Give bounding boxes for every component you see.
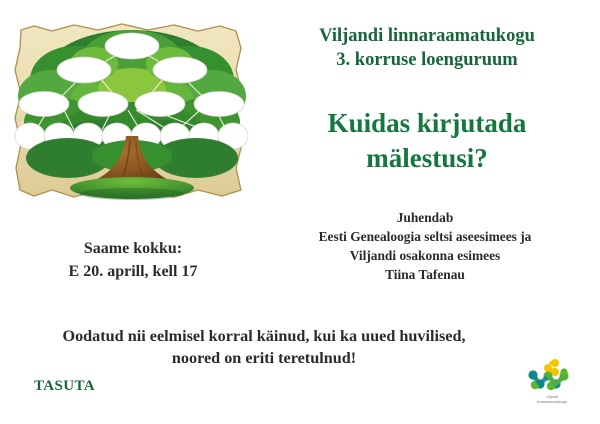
tree-slot	[105, 33, 159, 59]
venue-header: Viljandi linnaraamatukogu 3. korruse loe…	[262, 24, 592, 73]
page-title-line-2: mälestusi?	[258, 141, 596, 176]
meeting-block: Saame kokku: E 20. aprill, kell 17	[18, 238, 248, 283]
tree-slot	[194, 92, 244, 117]
page-title: Kuidas kirjutada mälestusi?	[258, 106, 596, 176]
venue-line-2: 3. korruse loenguruum	[262, 48, 592, 72]
library-logo: viljandi linnaraamatukogu	[521, 358, 583, 410]
library-logo-text: viljandi linnaraamatukogu	[521, 395, 583, 404]
instructor-block: Juhendab Eesti Genealoogia seltsi aseesi…	[255, 208, 595, 284]
page-title-line-1: Kuidas kirjutada	[258, 106, 596, 141]
venue-line-1: Viljandi linnaraamatukogu	[262, 24, 592, 48]
tree-slot	[19, 92, 69, 117]
welcome-line-2: noored on eriti teretulnud!	[14, 347, 514, 369]
welcome-line-1: Oodatud nii eelmisel korral käinud, kui …	[14, 325, 514, 347]
instructor-org-line-1: Eesti Genealoogia seltsi aseesimees ja	[255, 227, 595, 246]
instructor-label: Juhendab	[255, 208, 595, 227]
price-label: TASUTA	[34, 378, 95, 395]
meeting-datetime: E 20. aprill, kell 17	[18, 261, 248, 284]
poster-root: Viljandi linnaraamatukogu 3. korruse loe…	[0, 0, 600, 424]
instructor-org-line-2: Viljandi osakonna esimees	[255, 246, 595, 265]
tree-slot	[78, 92, 128, 117]
tree-ground	[70, 177, 194, 200]
meeting-label: Saame kokku:	[18, 238, 248, 261]
welcome-note: Oodatud nii eelmisel korral käinud, kui …	[14, 325, 514, 370]
family-tree-svg	[8, 18, 256, 210]
library-logo-mark	[521, 358, 583, 394]
library-logo-name-2: linnaraamatukogu	[521, 400, 583, 405]
tree-slot	[153, 57, 207, 83]
tree-slot	[135, 92, 185, 117]
instructor-name: Tiina Tafenau	[255, 265, 595, 284]
tree-slot	[57, 57, 111, 83]
family-tree-illustration	[8, 18, 256, 210]
